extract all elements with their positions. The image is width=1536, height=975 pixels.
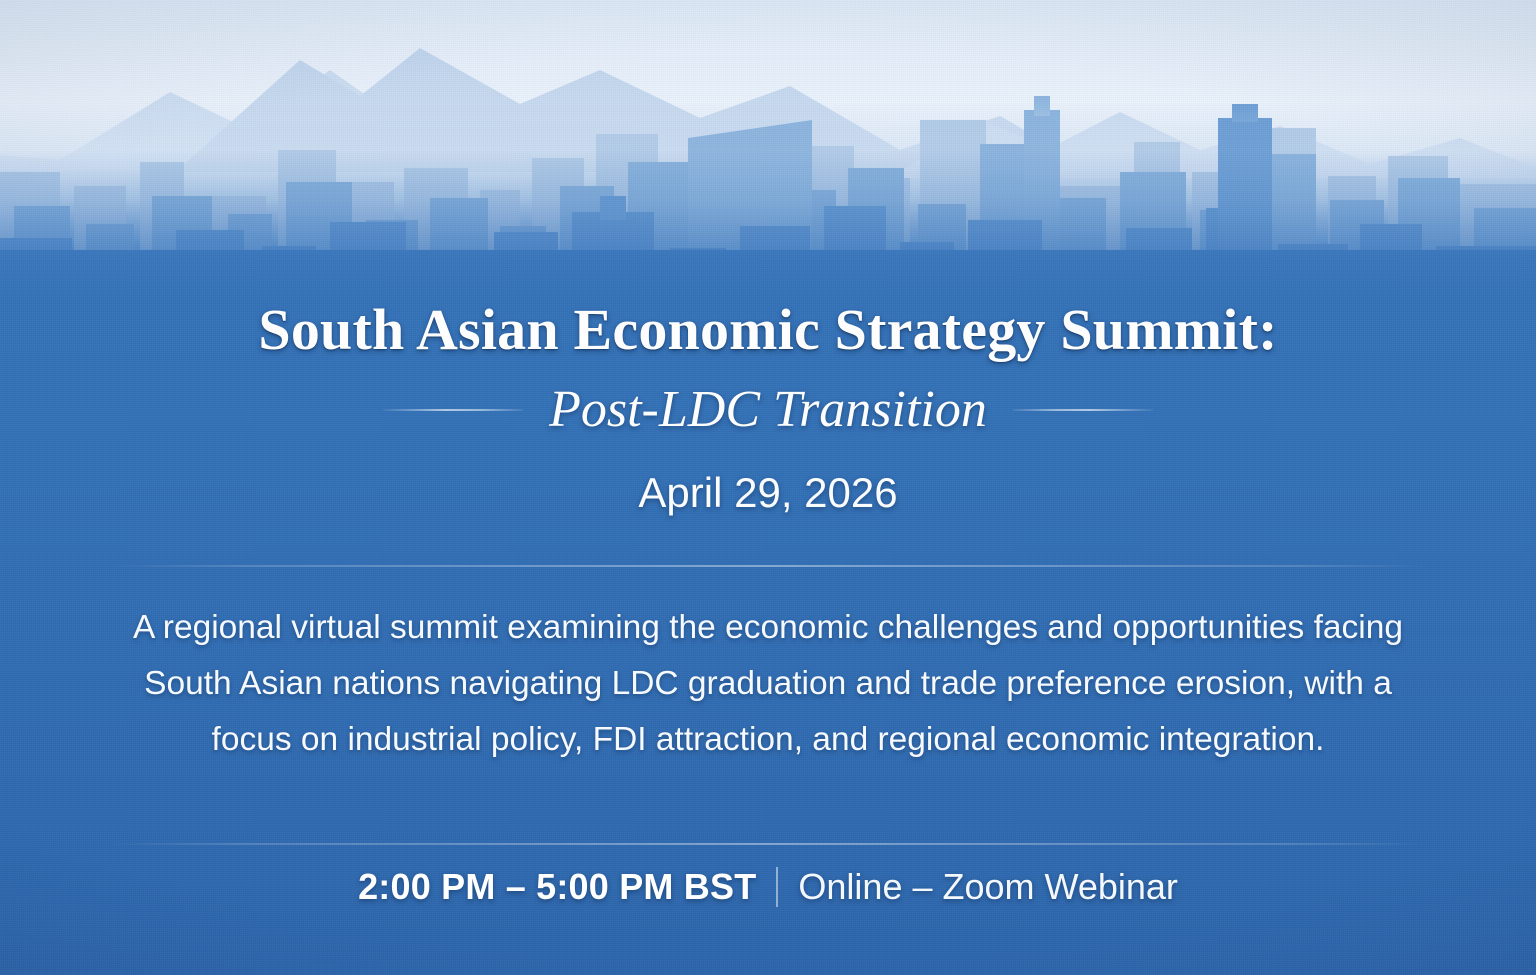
page-title: South Asian Economic Strategy Summit: [0,299,1536,362]
divider-above-description [110,565,1426,567]
event-meta: 2:00 PM – 5:00 PM BST Online – Zoom Webi… [0,866,1536,908]
event-description: A regional virtual summit examining the … [128,600,1408,768]
divider-below-description [110,843,1426,845]
page-subtitle: Post-LDC Transition [549,384,987,436]
poster-content: South Asian Economic Strategy Summit: Po… [0,0,1536,975]
event-venue: Online – Zoom Webinar [798,866,1178,908]
subtitle-row: Post-LDC Transition [0,384,1536,436]
subtitle-rule-right [1013,409,1153,411]
event-time: 2:00 PM – 5:00 PM BST [358,866,756,908]
event-date: April 29, 2026 [0,470,1536,516]
meta-separator-icon [776,867,778,907]
event-poster: South Asian Economic Strategy Summit: Po… [0,0,1536,975]
subtitle-rule-left [383,409,523,411]
